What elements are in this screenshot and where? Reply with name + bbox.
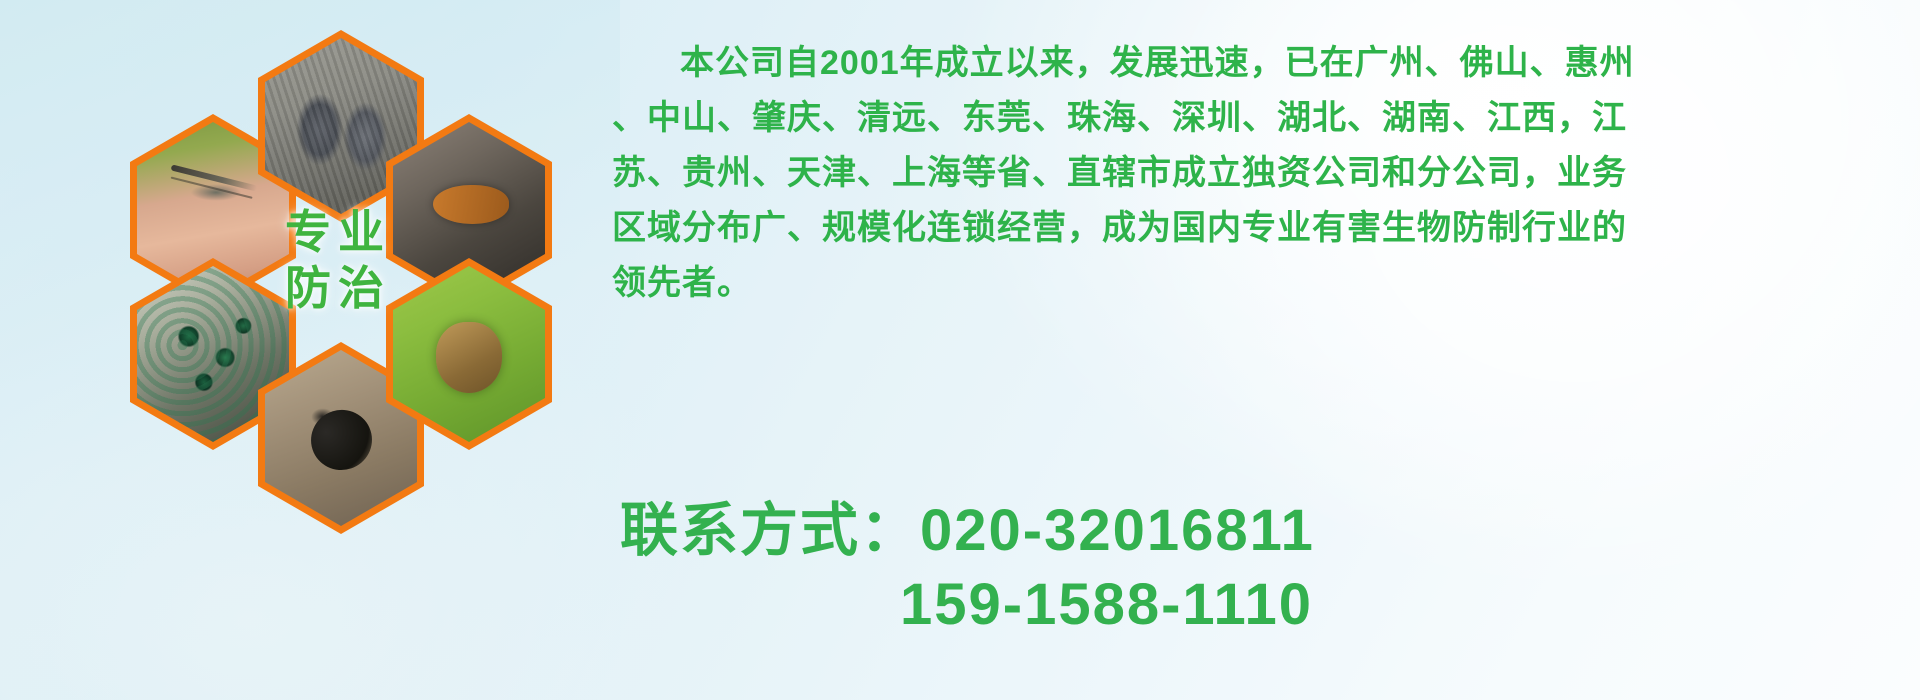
honeycomb-center-label: 专业 防治	[258, 204, 418, 316]
intro-line-4: 区域分布广、规模化连锁经营，成为国内专业有害生物防制行业的	[612, 201, 1902, 256]
center-label-line-1: 专业	[258, 204, 418, 260]
contact-secondary-phone[interactable]: 159-1588-1110	[620, 568, 1920, 642]
intro-line-5: 领先者。	[612, 256, 1902, 311]
company-intro-text: 本公司自2001年成立以来，发展迅速，已在广州、佛山、惠州 、中山、肇庆、清远、…	[612, 36, 1902, 311]
contact-block: 联系方式：020-32016811 159-1588-1110	[620, 494, 1920, 642]
intro-line-2: 、中山、肇庆、清远、东莞、珠海、深圳、湖北、湖南、江西，江	[612, 91, 1902, 146]
center-label-line-2: 防治	[258, 260, 418, 316]
company-intro-banner: 专业 防治 本公司自2001年成立以来，发展迅速，已在广州、佛山、惠州 、中山、…	[0, 0, 1920, 700]
contact-primary-phone[interactable]: 联系方式：020-32016811	[620, 494, 1920, 568]
intro-line-1: 本公司自2001年成立以来，发展迅速，已在广州、佛山、惠州	[612, 36, 1902, 91]
honeycomb-gallery: 专业 防治	[88, 8, 588, 568]
intro-line-3: 苏、贵州、天津、上海等省、直辖市成立独资公司和分公司，业务	[612, 146, 1902, 201]
